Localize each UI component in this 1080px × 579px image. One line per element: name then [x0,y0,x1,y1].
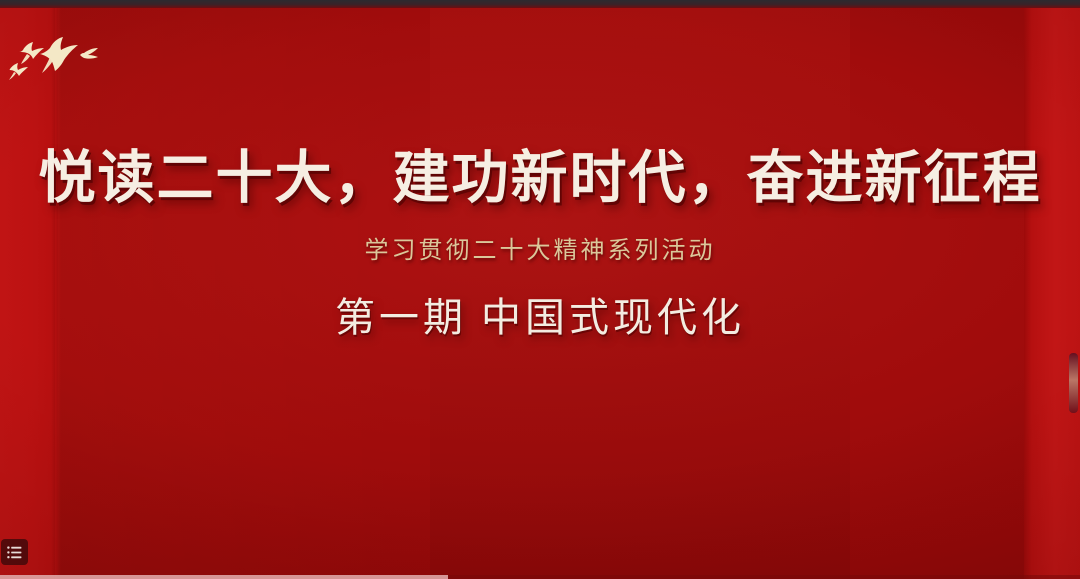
doves-icon [6,26,116,88]
top-bezel [0,0,1080,8]
playlist-icon [7,546,22,559]
playlist-button[interactable] [1,539,28,565]
video-player-screen: 悦读二十大，建功新时代，奋进新征程 学习贯彻二十大精神系列活动 第一期 中国式现… [0,0,1080,579]
episode-title: 第一期 中国式现代化 [0,285,1080,343]
progress-bar[interactable] [0,575,1080,579]
page-title: 悦读二十大，建功新时代，奋进新征程 [0,148,1080,210]
progress-bar-fill [0,575,448,579]
slide-text-block: 悦读二十大，建功新时代，奋进新征程 学习贯彻二十大精神系列活动 第一期 中国式现… [0,148,1080,343]
page-subtitle: 学习贯彻二十大精神系列活动 [0,230,1080,265]
scrollbar-thumb[interactable] [1069,353,1078,413]
slide-stage[interactable]: 悦读二十大，建功新时代，奋进新征程 学习贯彻二十大精神系列活动 第一期 中国式现… [0,8,1080,579]
